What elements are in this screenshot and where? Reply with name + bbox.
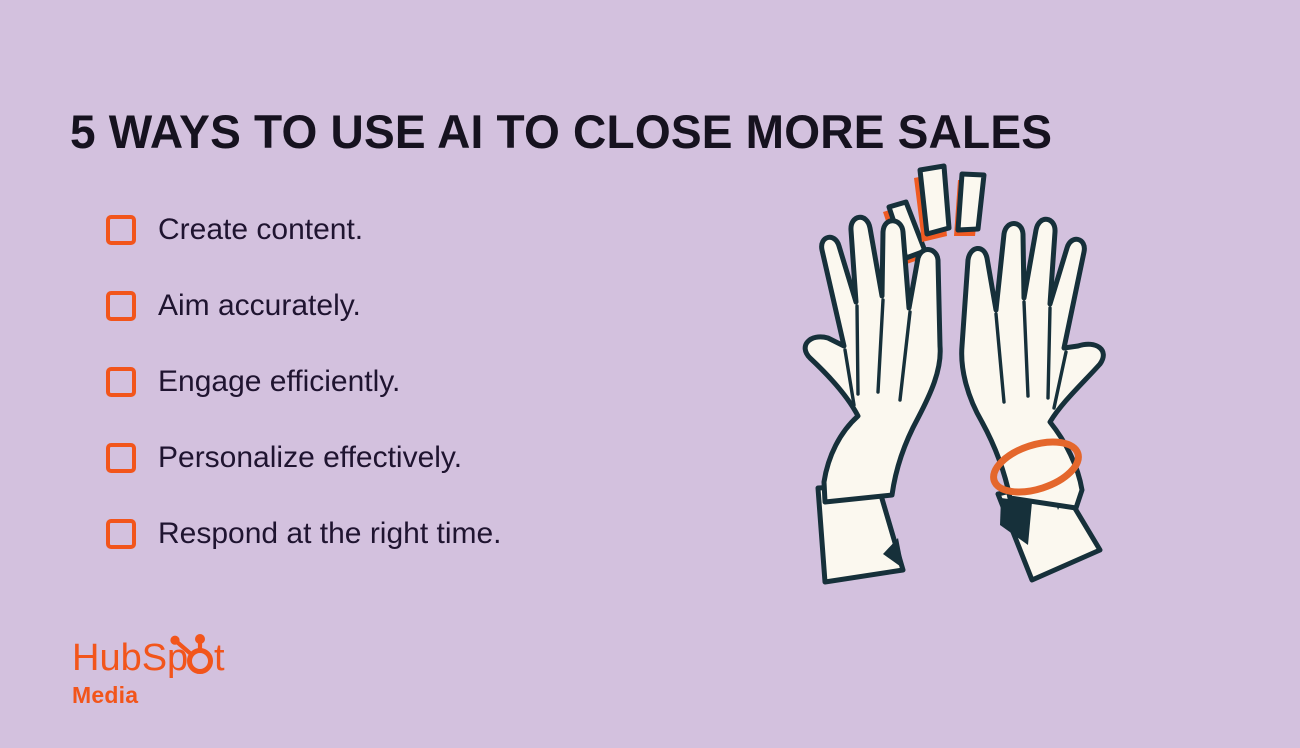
- list-item[interactable]: Aim accurately.: [106, 282, 746, 330]
- list-item[interactable]: Respond at the right time.: [106, 510, 746, 558]
- hubspot-checklist-graphic: 5 WAYS TO USE AI TO CLOSE MORE SALES Cre…: [0, 0, 1300, 748]
- list-item[interactable]: Create content.: [106, 206, 746, 254]
- list-item-label: Personalize effectively.: [158, 441, 462, 475]
- right-hand-group: [962, 219, 1104, 580]
- hubspot-wordmark-text-part1: HubSp: [72, 637, 188, 679]
- list-item-label: Create content.: [158, 213, 363, 247]
- hubspot-wordmark-text-part2: t: [214, 637, 225, 679]
- hubspot-wordmark-svg: HubSp t: [72, 634, 252, 680]
- high-five-hands-illustration: [770, 150, 1160, 590]
- high-five-hands-svg: [770, 150, 1160, 590]
- list-item-label: Aim accurately.: [158, 289, 361, 323]
- logo-sublabel: Media: [72, 682, 252, 708]
- list-item-label: Respond at the right time.: [158, 517, 502, 551]
- hubspot-wordmark: HubSp t: [72, 634, 252, 678]
- checkbox-icon[interactable]: [106, 367, 136, 397]
- checkbox-icon[interactable]: [106, 291, 136, 321]
- checkbox-icon[interactable]: [106, 443, 136, 473]
- checkbox-icon[interactable]: [106, 519, 136, 549]
- motion-mark-right: [954, 174, 984, 236]
- checklist: Create content. Aim accurately. Engage e…: [106, 206, 746, 558]
- list-item-label: Engage efficiently.: [158, 365, 400, 399]
- list-item[interactable]: Engage efficiently.: [106, 358, 746, 406]
- left-hand-group: [805, 217, 940, 582]
- checkbox-icon[interactable]: [106, 215, 136, 245]
- list-item[interactable]: Personalize effectively.: [106, 434, 746, 482]
- hubspot-media-logo[interactable]: HubSp t Media: [72, 634, 252, 708]
